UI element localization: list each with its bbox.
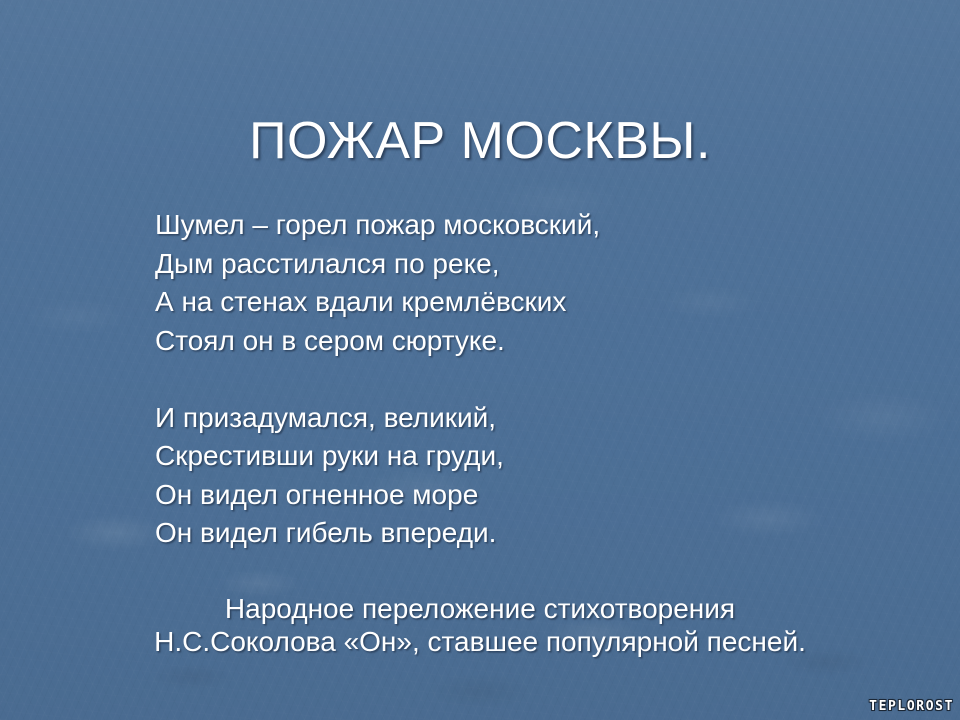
poem-line: А на стенах вдали кремлёвских xyxy=(155,283,815,322)
poem-line: Стоял он в сером сюртуке. xyxy=(155,322,815,361)
attribution-block: Народное переложение стихотворения Н.С.С… xyxy=(0,592,960,658)
poem-line: Скрестивши руки на груди, xyxy=(155,437,815,476)
presentation-slide: ПОЖАР МОСКВЫ. Шумел – горел пожар москов… xyxy=(0,0,960,720)
poem-line: Он видел огненное море xyxy=(155,476,815,515)
poem-line: И призадумался, великий, xyxy=(155,399,815,438)
attribution-line: Н.С.Соколова «Он», ставшее популярной пе… xyxy=(0,625,960,658)
slide-content: ПОЖАР МОСКВЫ. Шумел – горел пожар москов… xyxy=(0,0,960,720)
poem-line: Дым расстилался по реке, xyxy=(155,245,815,284)
poem-line: Шумел – горел пожар московский, xyxy=(155,206,815,245)
poem-body: Шумел – горел пожар московский, Дым расс… xyxy=(155,206,815,553)
poem-stanza: Шумел – горел пожар московский, Дым расс… xyxy=(155,206,815,360)
poem-line: Он видел гибель впереди. xyxy=(155,514,815,553)
poem-stanza: И призадумался, великий, Скрестивши руки… xyxy=(155,399,815,553)
attribution-line: Народное переложение стихотворения xyxy=(0,592,960,625)
watermark-label: TEPLOROST xyxy=(869,699,954,714)
page-title: ПОЖАР МОСКВЫ. xyxy=(0,113,960,170)
